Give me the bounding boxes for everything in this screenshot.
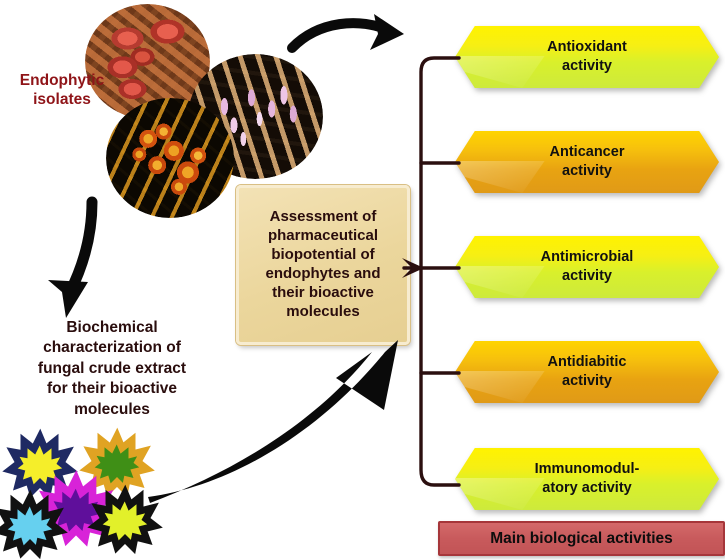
curved-arrow-top <box>292 14 404 50</box>
endophytic-isolates-line-2: isolates <box>6 91 118 110</box>
endophytic-isolates-line-1: Endophytic <box>6 72 118 91</box>
activity-hexagon-immunomodulatory: Immunomodul- atory activity <box>455 448 719 510</box>
biochem-line-3: fungal crude extract <box>0 359 226 379</box>
activity-immunomodulatory-line2: atory activity <box>535 479 640 498</box>
biochem-line-2: characterization of <box>0 338 226 358</box>
banner-text: Main biological activities <box>490 530 673 548</box>
activity-hexagon-antioxidant: Antioxidant activity <box>455 26 719 88</box>
activity-antioxidant-line1: Antioxidant <box>547 38 627 57</box>
endophytic-isolates-label: Endophytic isolates <box>6 72 118 110</box>
activity-immunomodulatory-line1: Immunomodul- <box>535 460 640 479</box>
activity-antidiabitic-line2: activity <box>548 372 627 391</box>
assessment-line-4: endophytes and <box>265 265 380 284</box>
assessment-line-6: molecules <box>265 303 380 322</box>
biochem-line-1: Biochemical <box>0 318 226 338</box>
biochemical-characterization-label: Biochemical characterization of fungal c… <box>0 318 226 420</box>
activities-bracket <box>404 58 459 485</box>
assessment-line-3: biopotential of <box>265 246 380 265</box>
biochem-line-5: molecules <box>0 400 226 420</box>
burst-navy-yellow <box>10 437 70 491</box>
activity-label-immunomodulatory: Immunomodul- atory activity <box>535 460 640 497</box>
figure-canvas: Endophytic isolates Biochemical characte… <box>0 0 725 560</box>
main-biological-activities-banner: Main biological activities <box>438 521 725 556</box>
assessment-box: Assessment of pharmaceutical biopotentia… <box>236 185 410 345</box>
assessment-line-1: Assessment of <box>265 208 380 227</box>
activity-antidiabitic-line1: Antidiabitic <box>548 353 627 372</box>
burst-orange-green <box>87 436 147 490</box>
activity-label-antioxidant: Antioxidant activity <box>547 38 627 75</box>
activity-label-antidiabitic: Antidiabitic activity <box>548 353 627 390</box>
burst-magenta-purple <box>43 479 109 538</box>
assessment-line-2: pharmaceutical <box>265 227 380 246</box>
activity-antimicrobial-line2: activity <box>541 267 634 286</box>
activity-antioxidant-line2: activity <box>547 57 627 76</box>
curved-arrow-down <box>48 202 92 318</box>
burst-black-lime <box>95 493 155 547</box>
micrograph-golden-clusters <box>106 98 234 218</box>
assessment-box-text: Assessment of pharmaceutical biopotentia… <box>265 208 380 321</box>
assessment-line-5: their bioactive <box>265 284 380 303</box>
burst-black-cyan <box>0 498 60 552</box>
activity-anticancer-line2: activity <box>550 162 625 181</box>
activity-hexagon-anticancer: Anticancer activity <box>455 131 719 193</box>
activity-anticancer-line1: Anticancer <box>550 143 625 162</box>
activity-label-anticancer: Anticancer activity <box>550 143 625 180</box>
activity-label-antimicrobial: Antimicrobial activity <box>541 248 634 285</box>
biochem-line-4: for their bioactive <box>0 379 226 399</box>
activity-hexagon-antimicrobial: Antimicrobial activity <box>455 236 719 298</box>
activity-antimicrobial-line1: Antimicrobial <box>541 248 634 267</box>
activity-hexagon-antidiabitic: Antidiabitic activity <box>455 341 719 403</box>
